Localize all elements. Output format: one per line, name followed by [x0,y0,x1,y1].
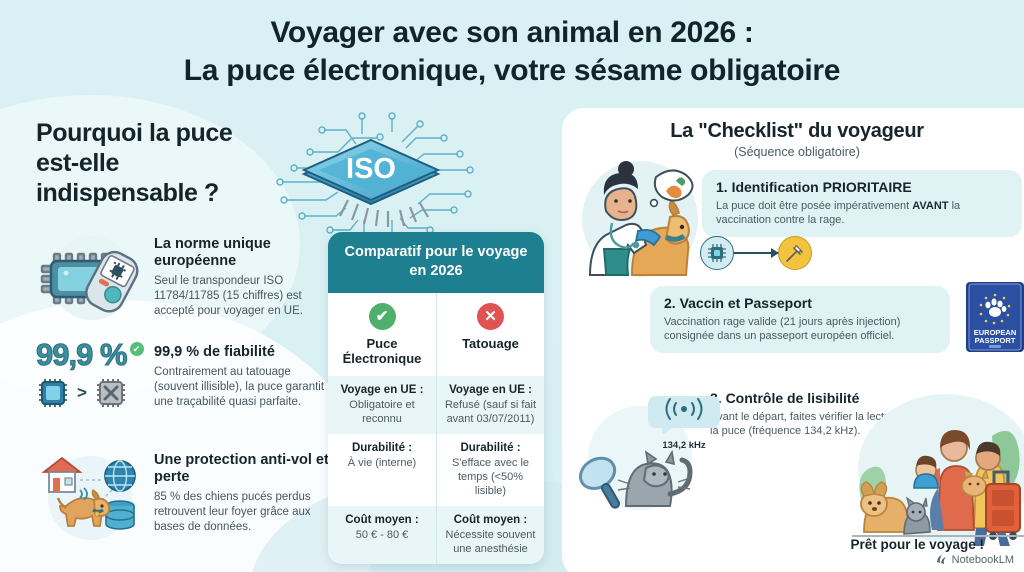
globe-icon [105,461,135,491]
table-row: Coût moyen : 50 € - 80 € Coût moyen : Né… [328,506,544,564]
table-cell-label: Durabilité : [443,441,538,455]
good-chip-icon [36,376,70,410]
table-cell: Voyage en UE : Refusé (sauf si fait avan… [436,376,544,434]
infographic-canvas: Voyager avec son animal en 2026 : La puc… [0,0,1024,572]
feature-european-standard: La norme unique européenne Seul le trans… [36,232,336,324]
feature-body: Seul le transpondeur ISO 11784/11785 (15… [154,274,336,319]
notebooklm-watermark: NotebookLM [935,553,1014,566]
ready-caption: Prêt pour le voyage ! [850,537,984,552]
family-travel-illustration [846,378,1024,548]
table-cell: Coût moyen : Nécessite souvent une anest… [436,506,544,564]
table-cell-label: Coût moyen : [334,513,430,527]
table-row: Voyage en UE : Obligatoire et reconnu Vo… [328,376,544,434]
feature-title: 99,9 % de fiabilité [154,344,336,361]
reliability-icon: 99,9 % ✔ > [36,340,144,432]
checklist-title: La "Checklist" du voyageur [562,120,1024,143]
notebooklm-logo-icon [935,553,948,566]
microchip-icon [700,236,734,270]
table-column-tattoo: ✕ Tatouage [436,293,544,376]
table-cell: Voyage en UE : Obligatoire et reconnu [328,376,436,434]
table-column-chip: ✔ Puce Électronique [328,293,436,376]
cross-circle-icon: ✕ [477,303,504,330]
table-column-label: Tatouage [443,336,538,351]
bad-chip-icon [94,376,128,410]
title-line-2: La puce électronique, votre sésame oblig… [0,52,1024,90]
table-row: Durabilité : À vie (interne) Durabilité … [328,434,544,506]
frequency-label: 134,2 kHz [648,440,720,451]
title-line-1: Voyager avec son animal en 2026 : [0,14,1024,52]
table-cell: Durabilité : À vie (interne) [328,434,436,506]
table-column-label: Puce Électronique [334,336,430,366]
table-cell-value: S'efface avec le temps (<50% lisible) [443,456,538,498]
table-cell-value: À vie (interne) [334,456,430,470]
reliability-stat: 99,9 % [36,340,127,370]
page-title: Voyager avec son animal en 2026 : La puc… [0,14,1024,90]
step-body: La puce doit être posée impérativement A… [716,199,1008,227]
table-cell-value: Nécessite souvent une anesthésie [443,528,538,556]
table-cell-value: Obligatoire et reconnu [334,398,430,426]
step-title: 1. Identification PRIORITAIRE [716,179,1008,196]
table-cell-label: Voyage en UE : [334,383,430,397]
comparison-table: Comparatif pour le voyage en 2026 ✔ Puce… [328,232,544,564]
dog-home-network-icon [36,448,144,540]
feature-body: 85 % des chiens pucés perdus retrouvent … [154,490,336,535]
sequence-arrow-icon [734,252,778,254]
passport-label-line2: PASSPORT [975,336,1016,345]
chip-before-vaccine-sequence [700,236,812,270]
table-cell-label: Coût moyen : [443,513,538,527]
checklist-step-2: 2. Vaccin et Passeport Vaccination rage … [650,286,950,353]
checklist-panel: La "Checklist" du voyageur (Séquence obl… [562,108,1024,572]
left-question-heading: Pourquoi la puce est-elle indispensable … [36,118,266,208]
greater-than-symbol: > [77,383,87,403]
table-header: Comparatif pour le voyage en 2026 [328,232,544,293]
table-cell-value: Refusé (sauf si fait avant 03/07/2011) [443,398,538,426]
database-icon [106,501,134,529]
left-column: Pourquoi la puce est-elle indispensable … [36,118,336,208]
step-body-before: La puce doit être posée impérativement [716,200,912,212]
step-body-emphasis: AVANT [912,200,948,212]
european-passport-icon: EUROPEAN PASSPORT [960,278,1024,356]
step-title: 2. Vaccin et Passeport [664,295,936,312]
feature-body: Contrairement au tatouage (souvent illis… [154,365,336,410]
table-column-headers: ✔ Puce Électronique ✕ Tatouage [328,293,544,376]
chip-scanner-icon [36,232,144,324]
feature-reliability: 99,9 % ✔ > [36,340,336,432]
watermark-label: NotebookLM [952,554,1014,566]
iso-chip-label: ISO [346,153,396,185]
veterinarian-dog-illustration [570,153,705,278]
check-badge-icon: ✔ [130,342,144,356]
table-cell-label: Voyage en UE : [443,383,538,397]
table-cell-value: 50 € - 80 € [334,528,430,542]
check-circle-icon: ✔ [369,303,396,330]
table-cell: Durabilité : S'efface avec le temps (<50… [436,434,544,506]
feature-title: Une protection anti-vol et perte [154,452,336,486]
step-body: Vaccination rage valide (21 jours après … [664,315,936,343]
table-cell: Coût moyen : 50 € - 80 € [328,506,436,564]
feature-antitheft: Une protection anti-vol et perte 85 % de… [36,448,336,540]
syringe-icon [778,236,812,270]
table-cell-label: Durabilité : [334,441,430,455]
frequency-bubble: 134,2 kHz [648,390,720,451]
checklist-step-1: 1. Identification PRIORITAIRE La puce do… [702,170,1022,237]
